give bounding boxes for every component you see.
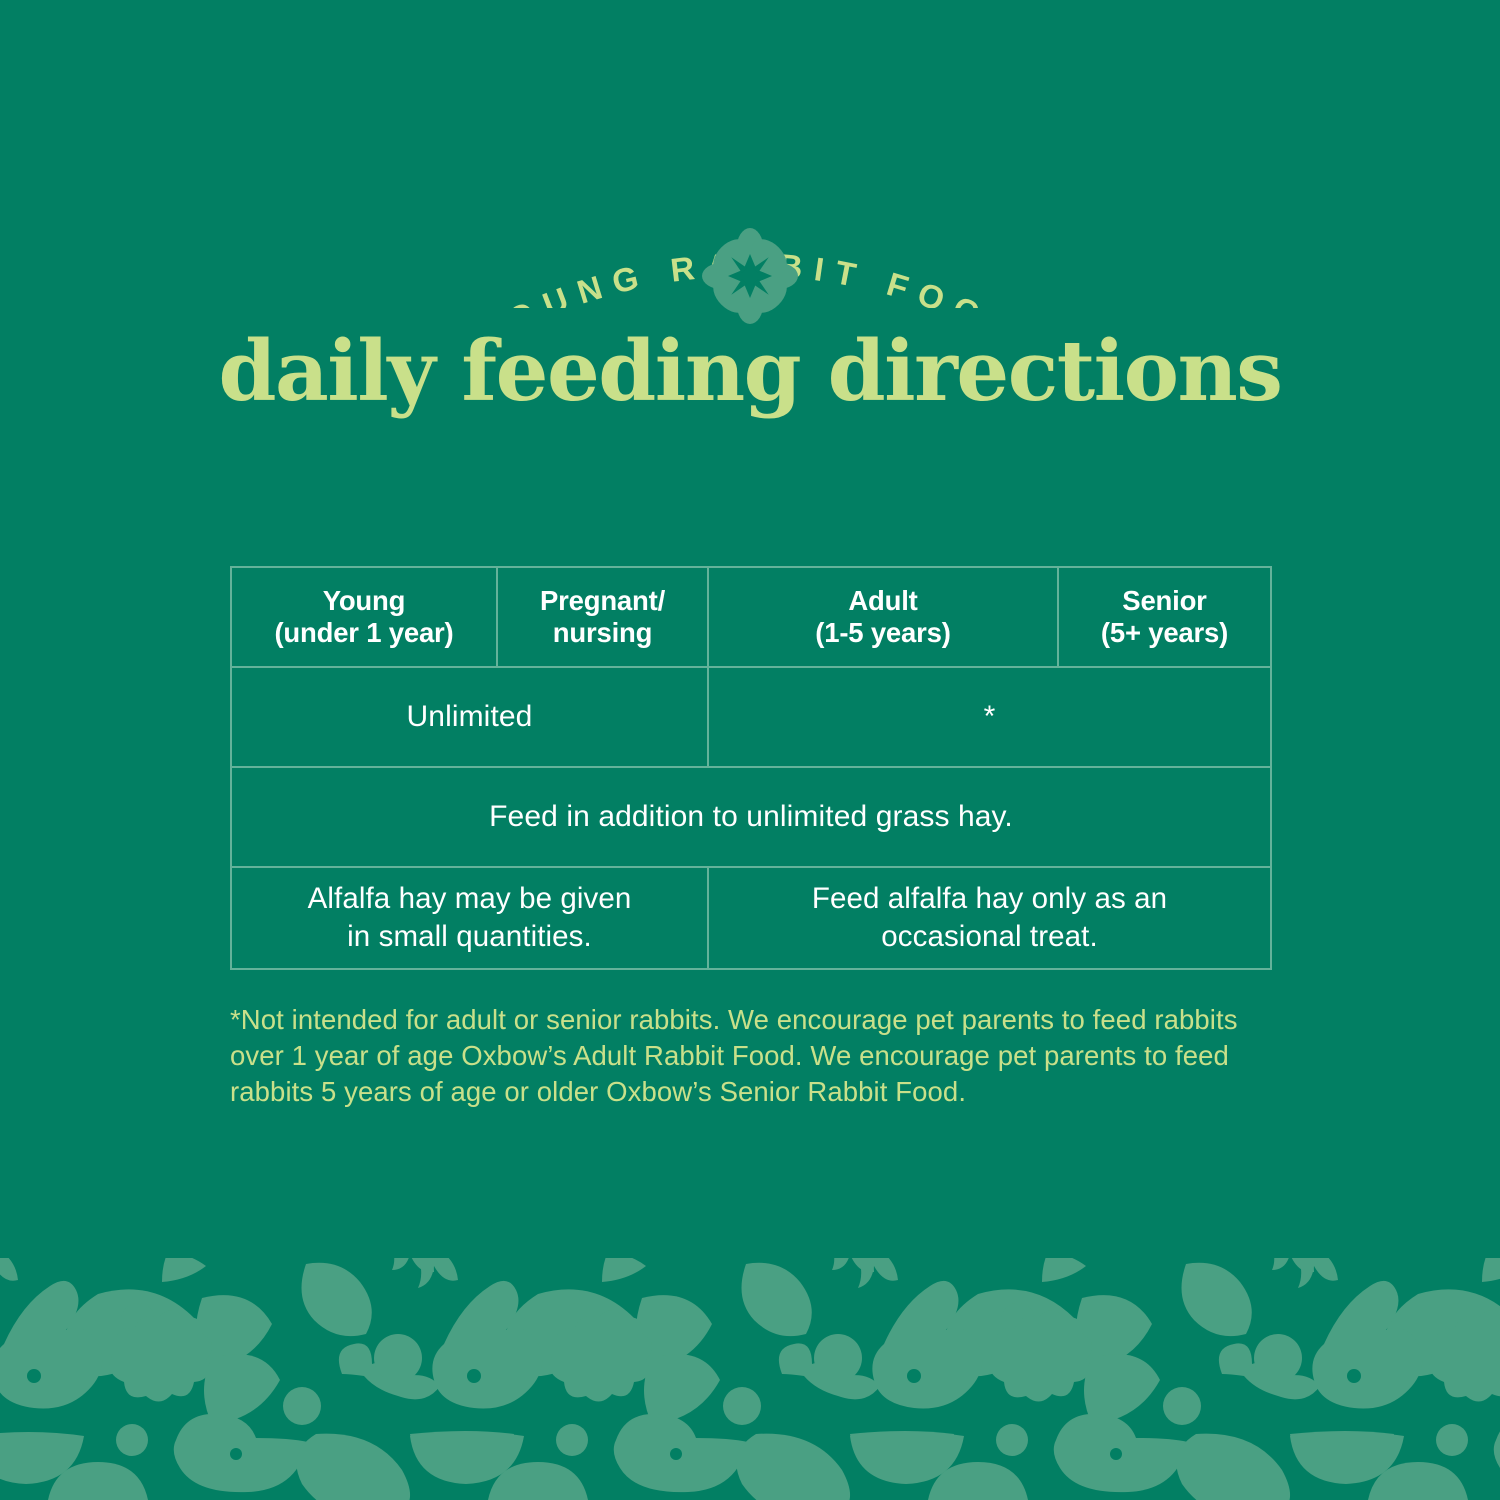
- column-header-adult-line2: (1-5 years): [815, 617, 950, 648]
- cell-alfalfa-young: Alfalfa hay may be given in small quanti…: [232, 868, 707, 968]
- rosette-flower-icon: [702, 228, 798, 324]
- bottom-pattern-band: [0, 1258, 1500, 1500]
- feeding-directions-panel: YOUNG RABBIT FOOD: [0, 0, 1500, 1500]
- cell-alfalfa-young-line1: Alfalfa hay may be given: [308, 882, 632, 915]
- column-header-senior-line1: Senior: [1122, 585, 1206, 616]
- column-header-pregnant-line2: nursing: [553, 617, 652, 648]
- column-header-senior: Senior (5+ years): [1057, 568, 1270, 666]
- cell-alfalfa-adult: Feed alfalfa hay only as an occasional t…: [707, 868, 1270, 968]
- cell-grass-hay-note: Feed in addition to unlimited grass hay.: [232, 768, 1270, 866]
- column-header-pregnant: Pregnant/ nursing: [496, 568, 707, 666]
- column-header-young-line2: (under 1 year): [274, 617, 453, 648]
- column-header-senior-line2: (5+ years): [1101, 617, 1228, 648]
- table-row-alfalfa: Alfalfa hay may be given in small quanti…: [232, 866, 1270, 968]
- table-row-amount: Unlimited *: [232, 666, 1270, 766]
- footnote-text: *Not intended for adult or senior rabbit…: [230, 1002, 1285, 1109]
- cell-alfalfa-adult-line2: occasional treat.: [881, 920, 1098, 953]
- table-header-row: Young (under 1 year) Pregnant/ nursing A…: [232, 568, 1270, 666]
- column-header-adult-line1: Adult: [848, 585, 917, 616]
- cell-alfalfa-adult-line1: Feed alfalfa hay only as an: [812, 882, 1167, 915]
- page-title: daily feeding directions: [0, 330, 1500, 413]
- cell-adult-senior-amount: *: [707, 668, 1270, 766]
- feeding-table: Young (under 1 year) Pregnant/ nursing A…: [230, 566, 1272, 970]
- column-header-pregnant-line1: Pregnant/: [540, 585, 665, 616]
- column-header-young: Young (under 1 year): [232, 568, 496, 666]
- column-header-young-line1: Young: [323, 585, 406, 616]
- cell-young-pregnant-amount: Unlimited: [232, 668, 707, 766]
- table-row-grass-hay-note: Feed in addition to unlimited grass hay.: [232, 766, 1270, 866]
- column-header-adult: Adult (1-5 years): [707, 568, 1057, 666]
- cell-alfalfa-young-line2: in small quantities.: [347, 920, 592, 953]
